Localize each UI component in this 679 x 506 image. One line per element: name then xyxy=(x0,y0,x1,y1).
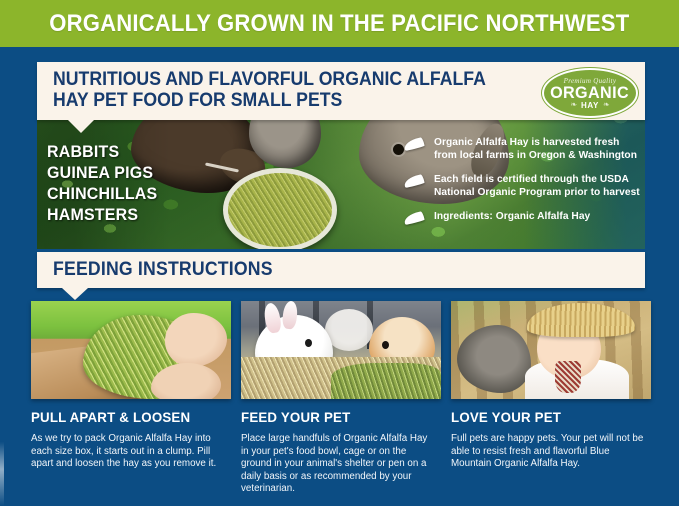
top-banner: ORGANICALLY GROWN IN THE PACIFIC NORTHWE… xyxy=(0,0,679,47)
fact-text: Each field is certified through the USDA… xyxy=(434,173,643,199)
pet-list-item: CHINCHILLAS xyxy=(47,183,157,204)
fact-bullet-list: Organic Alfalfa Hay is harvested fresh f… xyxy=(404,136,649,234)
step-title: PULL APART & LOOSEN xyxy=(31,409,221,425)
pet-list-item: GUINEA PIGS xyxy=(47,162,157,183)
leaf-bullet-icon xyxy=(404,213,424,223)
step-photo-love-your-pet xyxy=(451,301,651,399)
badge-hay-text: HAY xyxy=(581,101,599,110)
organic-hay-badge: Premium Quality ORGANIC ❧ HAY ❧ xyxy=(542,68,638,118)
rabbits-eating-hay-illustration xyxy=(241,301,441,399)
feeding-steps: PULL APART & LOOSEN As we try to pack Or… xyxy=(31,301,651,496)
step-title: LOVE YOUR PET xyxy=(451,409,641,425)
bow-tie-element xyxy=(555,361,581,393)
step-photo-feed-your-pet xyxy=(241,301,441,399)
fact-text: Organic Alfalfa Hay is harvested fresh f… xyxy=(434,136,643,162)
step-photo-pull-apart xyxy=(31,301,231,399)
step-card: PULL APART & LOOSEN As we try to pack Or… xyxy=(31,301,231,496)
fact-row: Ingredients: Organic Alfalfa Hay xyxy=(404,210,649,223)
green-hay-element xyxy=(331,363,441,399)
leaf-flourish-right-icon: ❧ xyxy=(603,101,610,109)
step-card: LOVE YOUR PET Full pets are happy pets. … xyxy=(451,301,651,496)
leaf-flourish-left-icon: ❧ xyxy=(570,101,577,109)
leaf-bullet-icon xyxy=(404,176,424,186)
step-body: As we try to pack Organic Alfalfa Hay in… xyxy=(31,433,227,471)
headline-title: NUTRITIOUS AND FLAVORFUL ORGANIC ALFALFA… xyxy=(53,69,518,111)
leaf-bullet-icon xyxy=(404,139,424,149)
pet-type-list: RABBITS GUINEA PIGS CHINCHILLAS HAMSTERS xyxy=(47,141,164,225)
fact-text: Ingredients: Organic Alfalfa Hay xyxy=(434,210,590,223)
fact-row: Each field is certified through the USDA… xyxy=(404,173,649,199)
step-body: Full pets are happy pets. Your pet will … xyxy=(451,433,647,471)
rabbit-eye-element xyxy=(382,341,389,349)
badge-organic-text: ORGANIC xyxy=(551,84,630,101)
boy-kissing-goat-illustration xyxy=(451,301,651,399)
fact-row: Organic Alfalfa Hay is harvested fresh f… xyxy=(404,136,649,162)
step-body: Place large handfuls of Organic Alfalfa … xyxy=(241,433,437,496)
hand-element xyxy=(165,313,227,367)
feeding-notch-triangle xyxy=(62,288,88,300)
headline-notch-triangle xyxy=(68,120,94,133)
pet-list-item: RABBITS xyxy=(47,141,157,162)
step-card: FEED YOUR PET Place large handfuls of Or… xyxy=(241,301,441,496)
rabbit-eye-element xyxy=(305,339,312,347)
infographic-root: ORGANICALLY GROWN IN THE PACIFIC NORTHWE… xyxy=(0,0,679,506)
top-banner-headline: ORGANICALLY GROWN IN THE PACIFIC NORTHWE… xyxy=(49,10,629,38)
hands-holding-hay-illustration xyxy=(31,301,231,399)
left-edge-highlight xyxy=(0,47,4,506)
pet-list-item: HAMSTERS xyxy=(47,204,157,225)
step-title: FEED YOUR PET xyxy=(241,409,431,425)
feeding-instructions-title: FEEDING INSTRUCTIONS xyxy=(53,259,273,281)
badge-hay-row: ❧ HAY ❧ xyxy=(570,101,609,110)
feeding-instructions-banner: FEEDING INSTRUCTIONS xyxy=(37,252,645,288)
